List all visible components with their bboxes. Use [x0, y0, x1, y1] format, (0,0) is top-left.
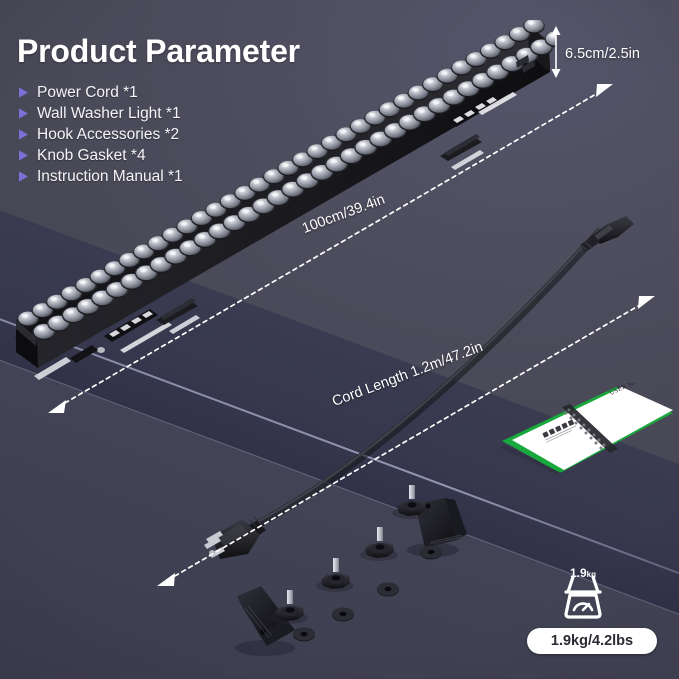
washer — [332, 608, 354, 622]
knob-gasket — [360, 527, 398, 561]
weight-badge: 1.9kg 1.9kg/4.2lbs — [527, 566, 657, 662]
washer — [420, 546, 442, 560]
washer — [293, 628, 315, 642]
accessories-group — [215, 478, 515, 663]
product-parameter-infographic: Product Parameter Power Cord *1 Wall Was… — [0, 0, 679, 679]
height-dimension-arrow — [552, 26, 561, 78]
weight-pill-label: 1.9kg/4.2lbs — [527, 628, 657, 654]
knob-gasket — [392, 485, 430, 519]
scale-icon-value: 1.9kg — [555, 566, 611, 580]
instruction-manual: USER MANUAL — [498, 383, 673, 475]
scale-icon: 1.9kg — [555, 566, 611, 622]
length-dimension-line — [48, 84, 613, 413]
washer — [377, 583, 399, 597]
height-dimension-label: 6.5cm/2.5in — [565, 46, 640, 62]
knob-gasket — [316, 558, 354, 592]
